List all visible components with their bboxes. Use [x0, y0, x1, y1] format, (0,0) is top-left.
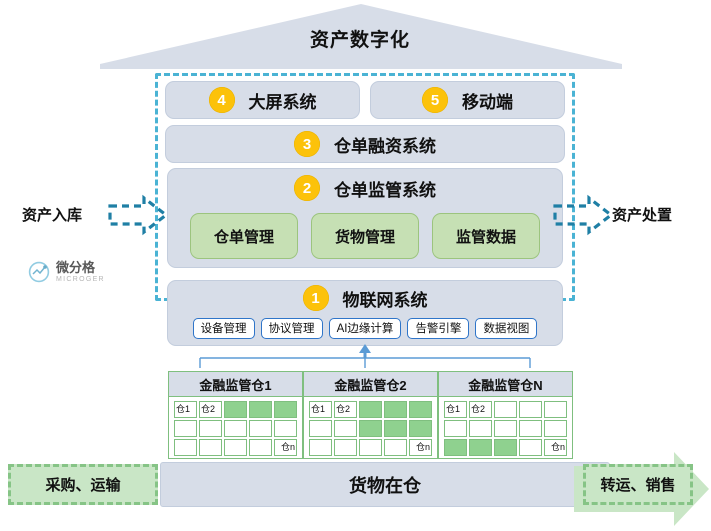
warehouse-cell-empty: [274, 420, 297, 437]
roof-title: 资产数字化: [240, 28, 480, 54]
layer-label: 仓单融资系统: [334, 132, 436, 157]
layer-title: 2 仓单监管系统: [168, 172, 562, 204]
warehouse-cell-empty: 仓n: [409, 439, 432, 456]
warehouse-cell-empty: [309, 420, 332, 437]
warehouse-cell-occupied: [384, 420, 407, 437]
warehouse-cell-occupied: [224, 401, 247, 418]
warehouse-cell-label: 仓1: [311, 402, 325, 417]
layer-title: 3 仓单融资系统: [166, 126, 564, 162]
warehouse-cell-empty: [519, 401, 542, 418]
warehouse-box[interactable]: 金融监管仓1 仓1仓2仓n: [168, 371, 303, 459]
module-protocol-management[interactable]: 协议管理: [261, 318, 323, 339]
iot-module-row: 设备管理 协议管理 AI边缘计算 告警引擎 数据视图: [168, 313, 562, 343]
warehouse-cell-occupied: [494, 439, 517, 456]
warehouse-cell-empty: [224, 439, 247, 456]
module-ai-edge-computing[interactable]: AI边缘计算: [329, 318, 402, 339]
warehouse-cell-empty: [249, 439, 272, 456]
transfer-sales-box: 转运、销售: [583, 464, 693, 505]
layer-big-screen-system[interactable]: 4 大屏系统: [165, 81, 360, 119]
warehouse-cell-label: 仓n: [281, 440, 295, 455]
warehouse-cell-empty: [519, 439, 542, 456]
warehouse-cell-empty: 仓1: [174, 401, 197, 418]
warehouse-grid: 仓1仓2仓n: [169, 397, 302, 461]
warehouse-cell-empty: [544, 420, 567, 437]
warehouse-cell-empty: [544, 401, 567, 418]
layer-label: 仓单监管系统: [334, 176, 436, 201]
warehouse-cell-empty: 仓2: [334, 401, 357, 418]
warehouse-cell-empty: [199, 439, 222, 456]
layer-iot-system[interactable]: 1 物联网系统 设备管理 协议管理 AI边缘计算 告警引擎 数据视图: [167, 280, 563, 346]
layer-number-badge: 4: [209, 87, 235, 113]
warehouse-cell-occupied: [359, 420, 382, 437]
warehouse-to-iot-connector: [160, 344, 570, 374]
layer-label: 移动端: [462, 88, 513, 113]
layer-mobile-terminal[interactable]: 5 移动端: [370, 81, 565, 119]
layer-number-badge: 5: [422, 87, 448, 113]
warehouse-cell-occupied: [469, 439, 492, 456]
warehouse-cell-empty: [249, 420, 272, 437]
layer-label: 物联网系统: [343, 286, 428, 311]
warehouse-cell-occupied: [444, 439, 467, 456]
warehouse-cell-label: 仓2: [471, 402, 485, 417]
layer-warehouse-receipt-supervision-system[interactable]: 2 仓单监管系统 仓单管理 货物管理 监管数据: [167, 168, 563, 268]
layer-title: 4 大屏系统: [166, 82, 359, 118]
warehouse-cell-empty: [469, 420, 492, 437]
warehouse-cell-occupied: [409, 420, 432, 437]
module-goods-management[interactable]: 货物管理: [311, 213, 419, 259]
warehouse-title: 金融监管仓2: [304, 372, 437, 397]
warehouse-cell-empty: [494, 401, 517, 418]
layer-number-badge: 3: [294, 131, 320, 157]
warehouse-cell-empty: [494, 420, 517, 437]
warehouse-grid: 仓1仓2仓n: [439, 397, 572, 461]
module-data-view[interactable]: 数据视图: [475, 318, 537, 339]
warehouse-title: 金融监管仓1: [169, 372, 302, 397]
goods-in-warehouse-bar: 货物在仓: [160, 462, 610, 507]
module-alarm-engine[interactable]: 告警引擎: [407, 318, 469, 339]
inbound-label: 资产入库: [22, 204, 82, 225]
warehouse-cell-empty: [384, 439, 407, 456]
warehouse-cell-label: 仓n: [416, 440, 430, 455]
procurement-transport-box: 采购、运输: [8, 464, 158, 505]
warehouse-cell-label: 仓2: [201, 402, 215, 417]
warehouse-cell-occupied: [274, 401, 297, 418]
warehouse-cell-empty: [334, 439, 357, 456]
warehouse-cell-occupied: [384, 401, 407, 418]
warehouse-cell-empty: [174, 420, 197, 437]
outbound-arrow-icon: [553, 194, 615, 236]
diagram-canvas: 资产数字化 4 大屏系统 5 移动端 3 仓单融资系统 2 仓单监管系统 仓单管…: [0, 0, 711, 531]
warehouse-cell-empty: [334, 420, 357, 437]
warehouse-cell-label: 仓2: [336, 402, 350, 417]
warehouse-cell-label: 仓n: [551, 440, 565, 455]
warehouse-cell-empty: [199, 420, 222, 437]
warehouse-cell-empty: [359, 439, 382, 456]
warehouse-cell-empty: 仓n: [544, 439, 567, 456]
warehouse-grid: 仓1仓2仓n: [304, 397, 437, 461]
warehouse-cell-label: 仓1: [176, 402, 190, 417]
warehouse-cell-empty: 仓n: [274, 439, 297, 456]
warehouse-cell-empty: [224, 420, 247, 437]
layer-title: 1 物联网系统: [168, 283, 562, 313]
module-supervision-data[interactable]: 监管数据: [432, 213, 540, 259]
module-warehouse-receipt-management[interactable]: 仓单管理: [190, 213, 298, 259]
warehouse-cell-empty: [174, 439, 197, 456]
warehouse-box[interactable]: 金融监管仓2 仓1仓2仓n: [303, 371, 438, 459]
module-device-management[interactable]: 设备管理: [193, 318, 255, 339]
warehouse-title: 金融监管仓N: [439, 372, 572, 397]
warehouse-cell-occupied: [249, 401, 272, 418]
warehouse-box[interactable]: 金融监管仓N 仓1仓2仓n: [438, 371, 573, 459]
supervision-module-row: 仓单管理 货物管理 监管数据: [168, 207, 562, 265]
layer-number-badge: 2: [294, 175, 320, 201]
layer-warehouse-receipt-financing-system[interactable]: 3 仓单融资系统: [165, 125, 565, 163]
watermark-en: MICROGER: [56, 276, 105, 283]
warehouse-cell-empty: 仓1: [309, 401, 332, 418]
microger-circle-icon: [28, 261, 50, 283]
layer-label: 大屏系统: [249, 88, 317, 113]
warehouse-cell-occupied: [409, 401, 432, 418]
warehouse-cell-occupied: [359, 401, 382, 418]
warehouse-cell-empty: 仓2: [199, 401, 222, 418]
layer-number-badge: 1: [303, 285, 329, 311]
warehouse-cell-empty: [444, 420, 467, 437]
warehouse-cell-empty: [519, 420, 542, 437]
warehouse-cell-label: 仓1: [446, 402, 460, 417]
layer-title: 5 移动端: [371, 82, 564, 118]
warehouse-cell-empty: 仓2: [469, 401, 492, 418]
watermark-logo: 微分格 MICROGER: [28, 255, 138, 289]
warehouse-cell-empty: [309, 439, 332, 456]
warehouse-cell-empty: 仓1: [444, 401, 467, 418]
outbound-label: 资产处置: [612, 204, 672, 225]
inbound-arrow-icon: [108, 194, 170, 236]
watermark-cn: 微分格: [56, 261, 105, 274]
